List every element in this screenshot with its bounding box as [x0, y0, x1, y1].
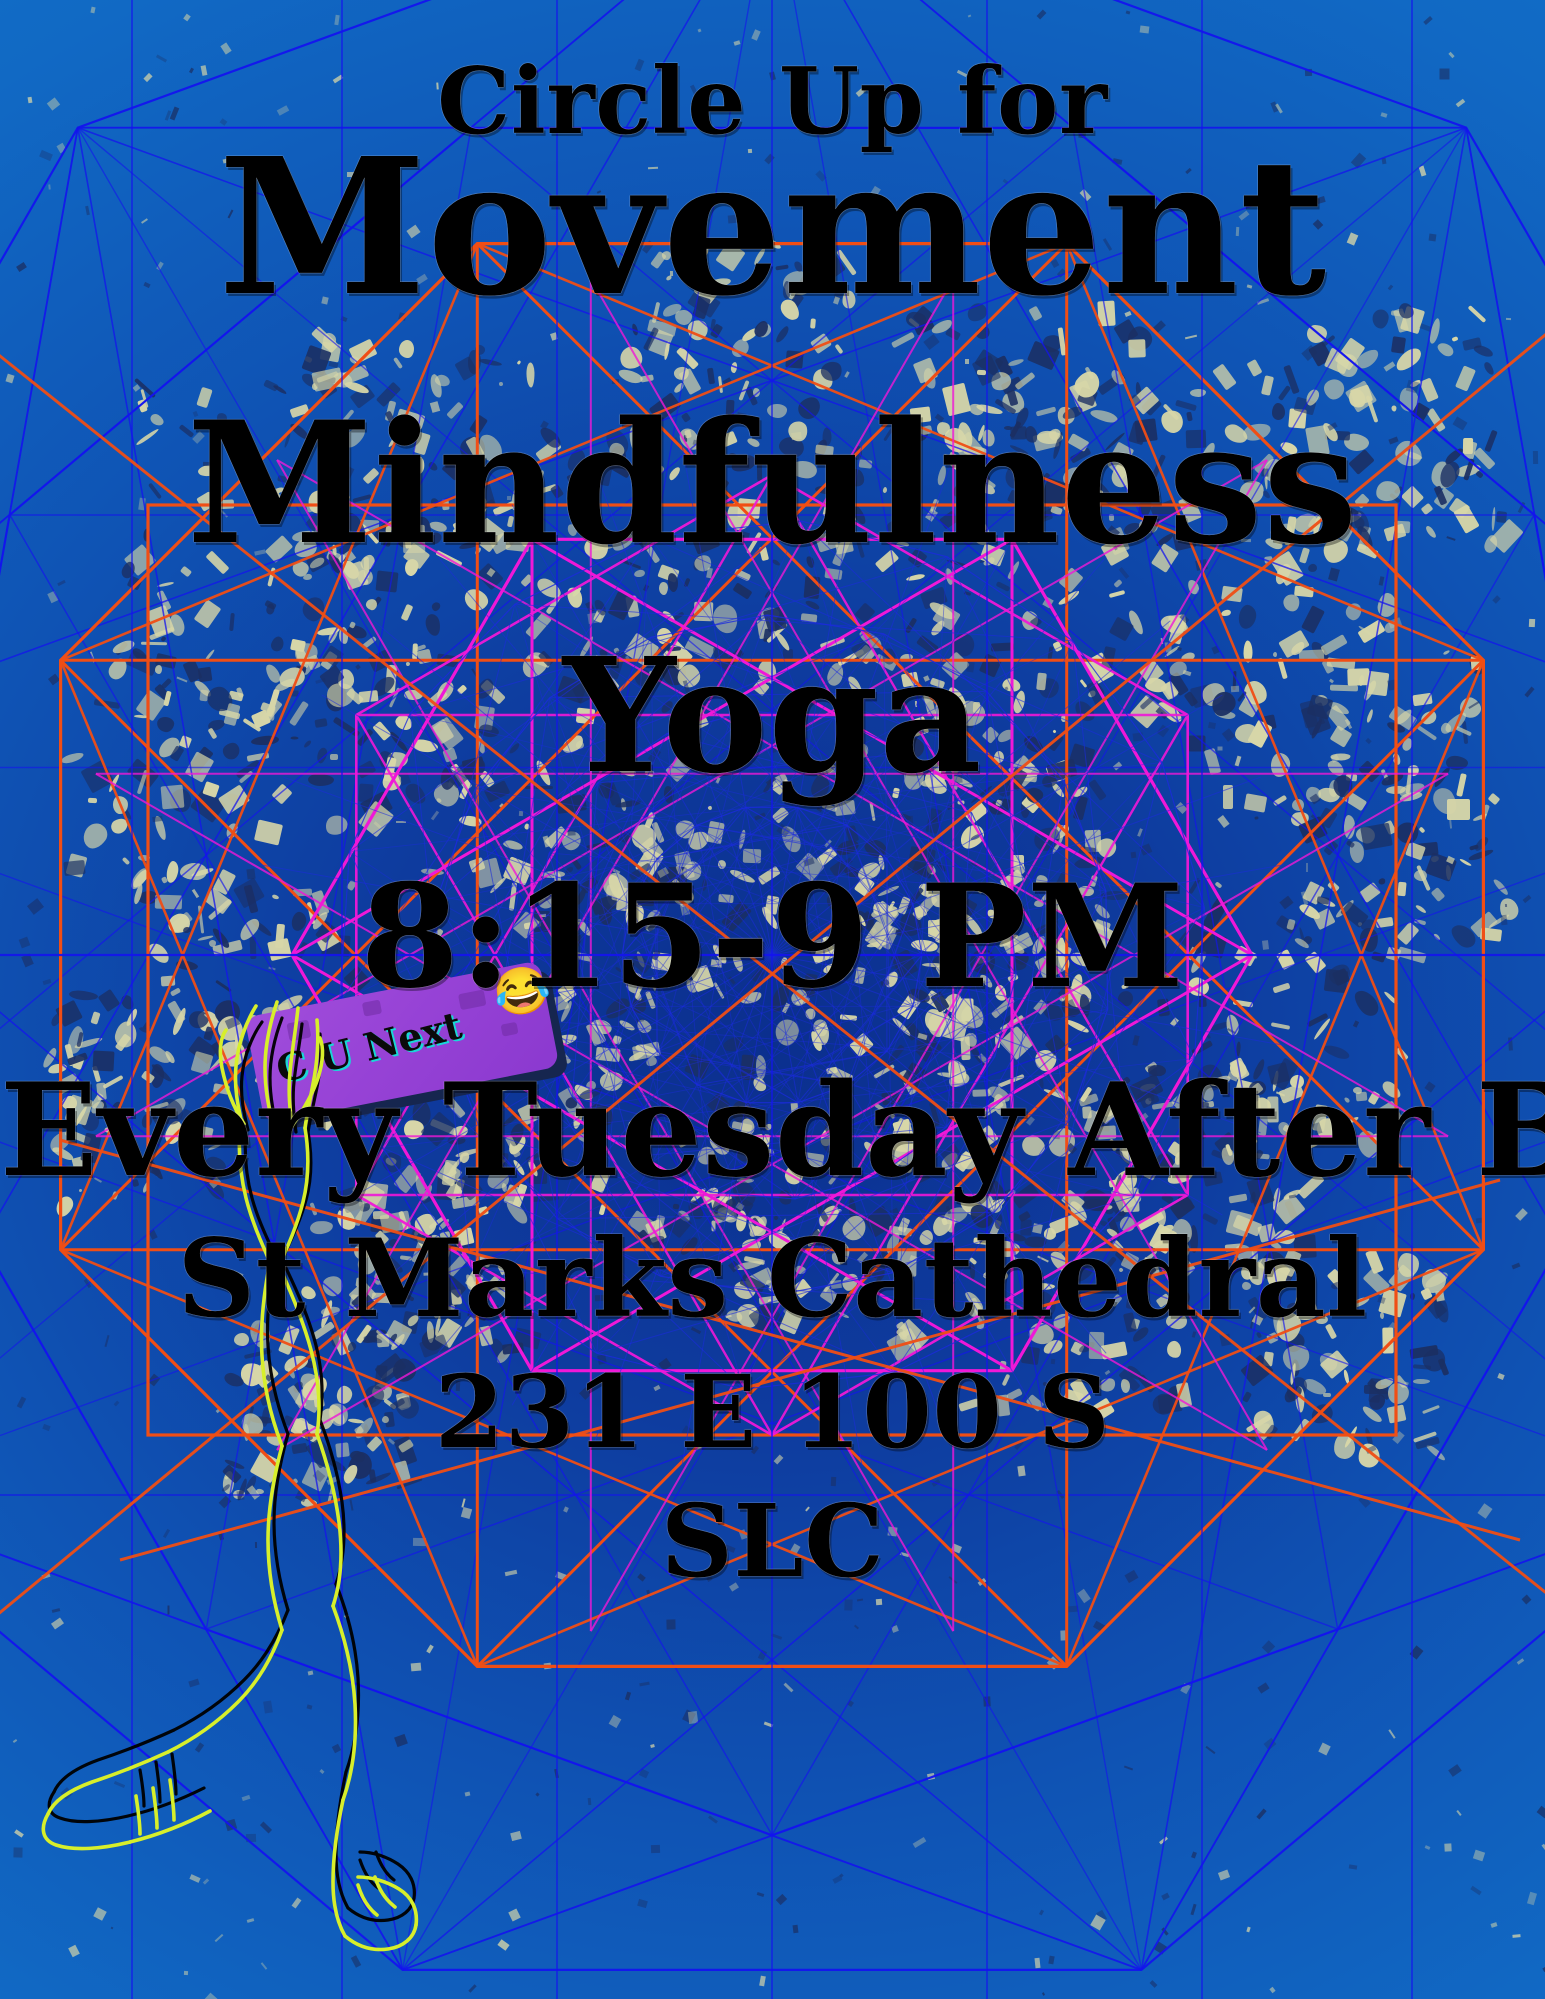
- event-recurrence: Every Tuesday After Barneys: [0, 1071, 1545, 1193]
- title-line-1: Movement: [0, 139, 1545, 318]
- title-line-2: Mindfulness: [0, 404, 1545, 564]
- text-core: 8:15-9 PM: [360, 854, 1184, 1020]
- poster-canvas: C U Next 😂 Circle Up for Movement Mindfu…: [0, 0, 1545, 1999]
- title-line-3: Yoga: [0, 642, 1545, 792]
- poster-text-block: Circle Up for Movement Mindfulness Yoga …: [0, 0, 1545, 1999]
- text-core: Every Tuesday After Barneys: [0, 1056, 1545, 1206]
- event-time: 8:15-9 PM: [0, 870, 1545, 1005]
- text-core: SLC: [661, 1482, 885, 1600]
- text-core: St Marks Cathedral: [177, 1216, 1368, 1342]
- venue-address: 231 E 100 S: [0, 1365, 1545, 1460]
- text-core: Mindfulness: [187, 384, 1358, 582]
- venue-name: St Marks Cathedral: [0, 1228, 1545, 1331]
- text-core: Yoga: [563, 624, 982, 809]
- text-core: Movement: [218, 117, 1326, 338]
- text-core: 231 E 100 S: [435, 1353, 1111, 1471]
- venue-city: SLC: [0, 1494, 1545, 1589]
